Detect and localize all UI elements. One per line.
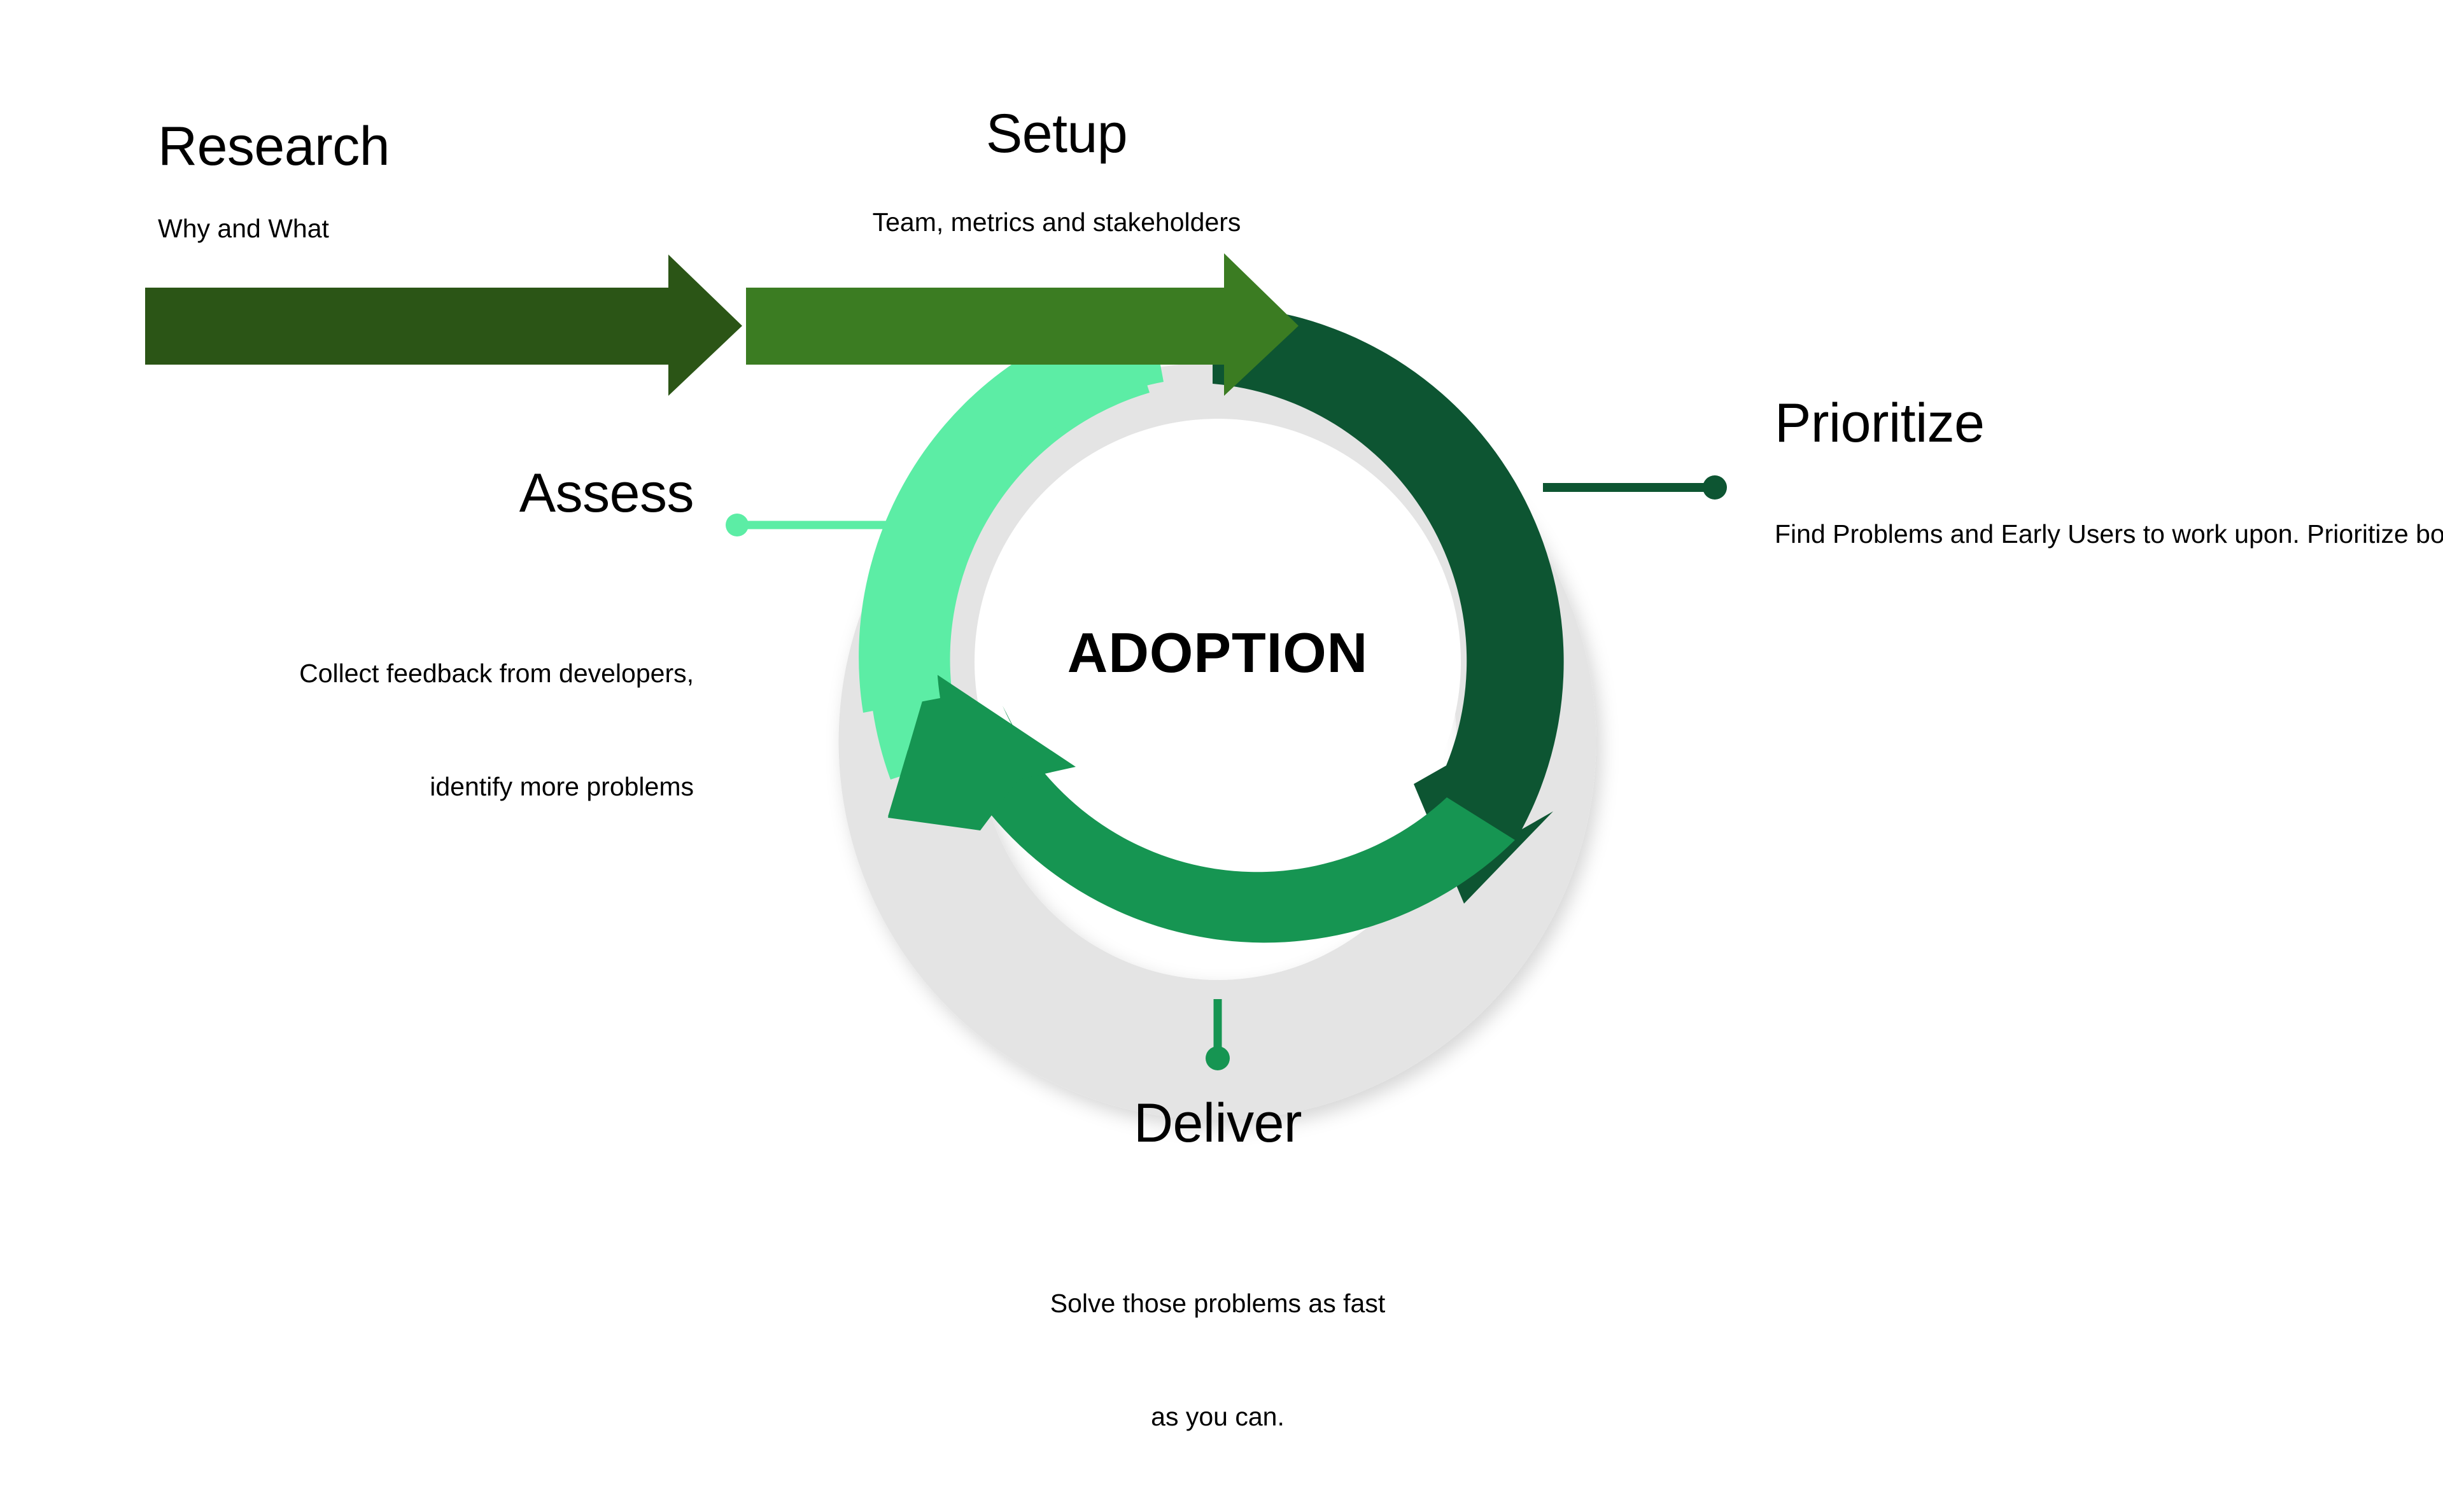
center-label: ADOPTION xyxy=(963,620,1472,685)
step-description-prioritize: Find Problems and Early Users to work up… xyxy=(1775,515,2284,553)
step-title-deliver: Deliver xyxy=(963,1095,1472,1152)
connector-dot-prioritize xyxy=(1703,475,1727,500)
step-title-assess: Assess xyxy=(229,465,694,522)
step-description-assess: Collect feedback from developers, identi… xyxy=(191,579,694,882)
step-title-research: Research xyxy=(158,118,731,175)
connector-dot-deliver xyxy=(1206,1046,1230,1070)
connector-prioritize xyxy=(1543,475,1727,500)
connector-assess xyxy=(726,514,891,536)
assess-desc-line-2: identify more problems xyxy=(191,768,694,806)
diagram-canvas: Research Why and What Setup Team, metric… xyxy=(0,0,2443,1375)
step-title-prioritize: Prioritize xyxy=(1775,395,2348,452)
step-description-setup: Team, metrics and stakeholders xyxy=(783,204,1330,241)
step-title-setup: Setup xyxy=(783,105,1330,162)
step-description-deliver: Solve those problems as fast as you can. xyxy=(963,1209,1472,1512)
deliver-desc-line-1: Solve those problems as fast xyxy=(963,1285,1472,1322)
deliver-desc-line-2: as you can. xyxy=(963,1398,1472,1436)
step-description-research: Why and What xyxy=(158,210,731,248)
arrow-research[interactable] xyxy=(145,255,742,396)
assess-desc-line-1: Collect feedback from developers, xyxy=(191,655,694,692)
connector-dot-assess xyxy=(726,514,749,536)
